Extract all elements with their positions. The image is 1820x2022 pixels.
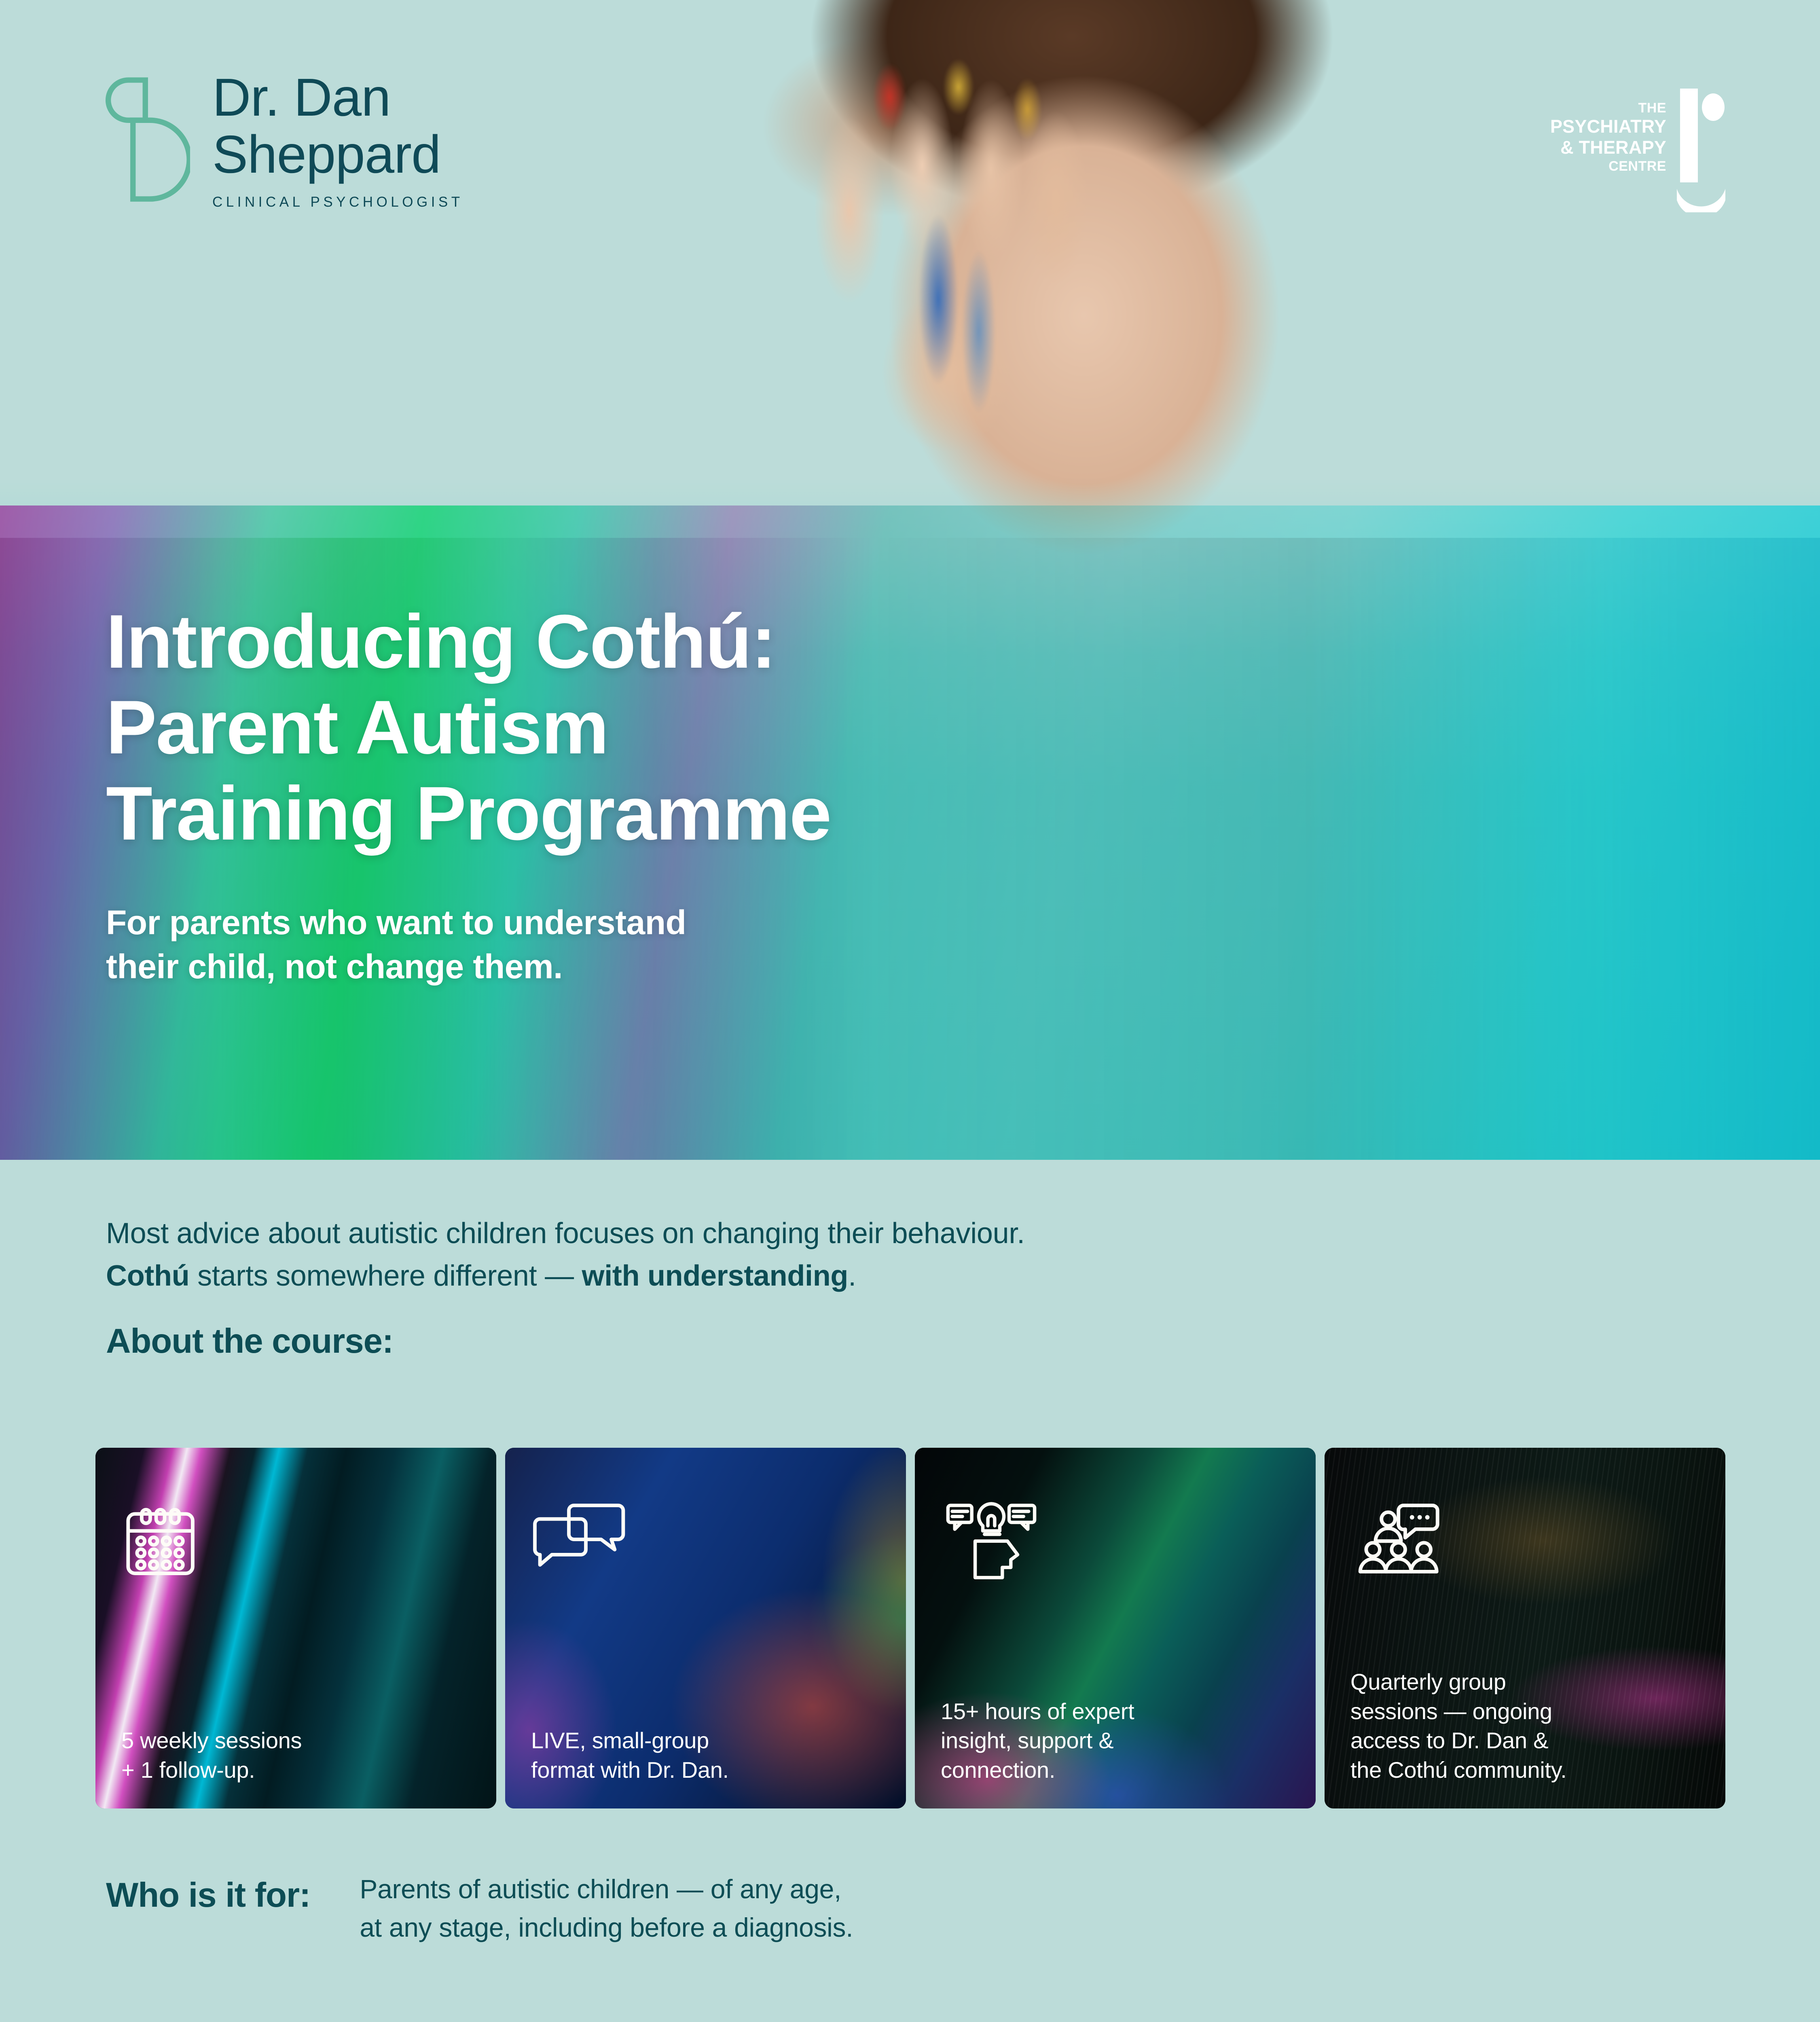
- course-feature-cards: 5 weekly sessions + 1 follow-up. LIVE, s…: [95, 1448, 1725, 1808]
- course-card-quarterly-group[interactable]: Quarterly group sessions — ongoing acces…: [1325, 1448, 1725, 1808]
- course-card-text: 15+ hours of expert insight, support & c…: [941, 1697, 1295, 1785]
- lede-bold-understanding: with understanding: [582, 1260, 849, 1292]
- hero-copy: Introducing Cothú: Parent Autism Trainin…: [106, 599, 831, 988]
- course-card-text: LIVE, small-group format with Dr. Dan.: [531, 1726, 886, 1785]
- psychiatry-therapy-centre-logo[interactable]: THE PSYCHIATRY & THERAPY CENTRE: [1550, 87, 1727, 212]
- lede-part-3: .: [848, 1260, 856, 1292]
- lede-part-2: starts somewhere different —: [189, 1260, 582, 1292]
- brand-tagline: CLINICAL PSYCHOLOGIST: [212, 194, 463, 210]
- course-card-live-format[interactable]: LIVE, small-group format with Dr. Dan.: [505, 1448, 906, 1808]
- who-is-it-for-text: Parents of autistic children — of any ag…: [360, 1870, 853, 1947]
- course-card-text: 5 weekly sessions + 1 follow-up.: [121, 1726, 476, 1785]
- lede-paragraph: Most advice about autistic children focu…: [106, 1212, 1025, 1297]
- lede-bold-cothu: Cothú: [106, 1260, 189, 1292]
- about-section: Most advice about autistic children focu…: [0, 1160, 1820, 2022]
- who-is-it-for-label: Who is it for:: [106, 1870, 310, 1915]
- head-lightbulb-idea-icon: [941, 1500, 1042, 1585]
- course-card-text: Quarterly group sessions — ongoing acces…: [1350, 1667, 1705, 1785]
- course-card-weekly-sessions[interactable]: 5 weekly sessions + 1 follow-up.: [95, 1448, 496, 1808]
- brand-name: Dr. Dan Sheppard: [212, 69, 463, 183]
- calendar-icon: [121, 1500, 206, 1585]
- smiling-face-logo-icon: [1675, 87, 1727, 212]
- db-monogram-icon: [105, 73, 190, 206]
- centre-logo-line-1: THE: [1550, 100, 1666, 116]
- lede-part-1: Most advice about autistic children focu…: [106, 1217, 1025, 1250]
- centre-logo-line-4: CENTRE: [1550, 158, 1666, 174]
- brand-logo[interactable]: Dr. Dan Sheppard CLINICAL PSYCHOLOGIST: [105, 69, 463, 210]
- who-is-it-for-row: Who is it for: Parents of autistic child…: [106, 1870, 853, 1947]
- centre-logo-line-3: & THERAPY: [1550, 137, 1666, 158]
- hero-title: Introducing Cothú: Parent Autism Trainin…: [106, 599, 831, 856]
- centre-logo-line-2: PSYCHIATRY: [1550, 116, 1666, 137]
- poster: Dr. Dan Sheppard CLINICAL PSYCHOLOGIST T…: [0, 0, 1820, 2022]
- hero-section: Dr. Dan Sheppard CLINICAL PSYCHOLOGIST T…: [0, 0, 1820, 1160]
- group-community-chat-icon: [1350, 1500, 1452, 1585]
- hero-subtitle: For parents who want to understand their…: [106, 901, 831, 988]
- course-card-expert-hours[interactable]: 15+ hours of expert insight, support & c…: [915, 1448, 1316, 1808]
- about-the-course-heading: About the course:: [106, 1322, 393, 1361]
- speech-bubbles-icon: [531, 1500, 632, 1585]
